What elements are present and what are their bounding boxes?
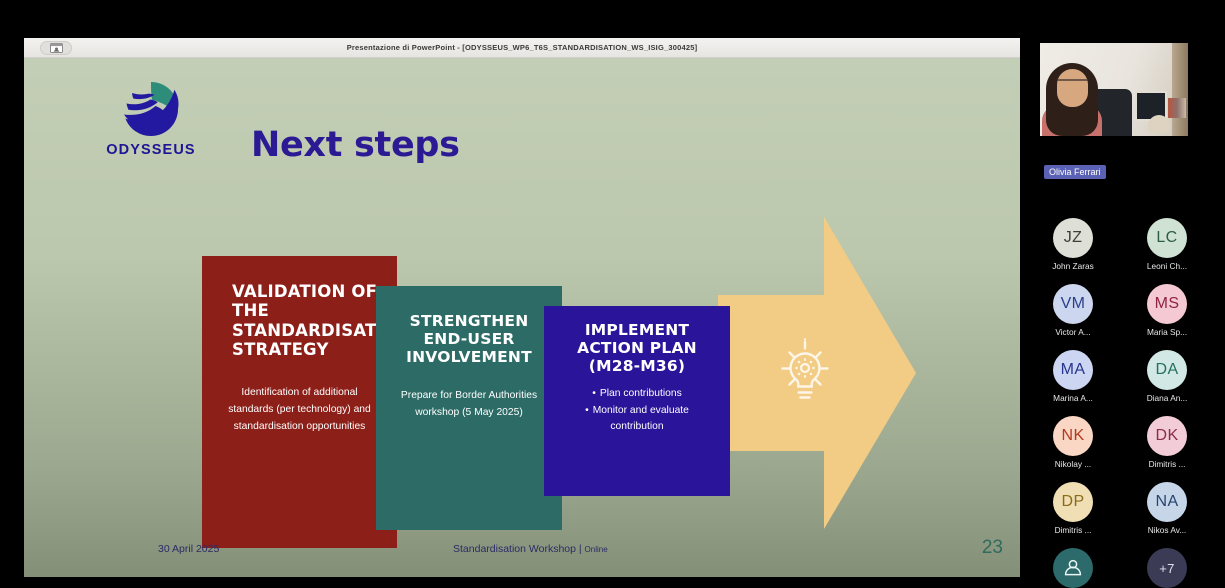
avatar: JZ [1053, 218, 1093, 258]
avatar: VM [1053, 284, 1093, 324]
self-video-tile[interactable] [1040, 43, 1188, 136]
avatar: NA [1147, 482, 1187, 522]
avatar: DK [1147, 416, 1187, 456]
footer-event-mode: Online [585, 545, 608, 554]
footer-date: 30 April 2025 [158, 543, 219, 555]
bullet-dot-icon: • [585, 405, 589, 416]
participant-name: Victor A... [1040, 327, 1106, 337]
slide-footer: 30 April 2025 Standardisation Workshop |… [24, 535, 1020, 577]
video-person-face [1057, 69, 1088, 107]
avatar: DP [1053, 482, 1093, 522]
avatar: MA [1053, 350, 1093, 390]
page-title: Next steps [251, 125, 460, 165]
slide-number: 23 [982, 537, 1003, 559]
participant-overflow-tile[interactable]: +7 [1134, 548, 1200, 588]
participant-name: Dimitris ... [1134, 459, 1200, 469]
stage-body: Prepare for Border Authorities workshop … [390, 388, 548, 421]
slide-canvas[interactable]: ODYSSEUS Next steps [24, 58, 1020, 577]
participant-name: Marina A... [1040, 393, 1106, 403]
participant-tile[interactable]: VMVictor A... [1040, 284, 1106, 337]
bullet-text: Plan contributions [600, 388, 682, 399]
window-title: Presentazione di PowerPoint - [ODYSSEUS_… [24, 43, 1020, 52]
stage-heading: IMPLEMENT ACTION PLAN (M28-M36) [556, 321, 718, 375]
stage-body: Identification of additional standards (… [214, 385, 385, 435]
list-item: •Monitor and evaluate contribution [560, 403, 714, 436]
participant-name: Nikos Av... [1134, 525, 1200, 535]
participant-tile[interactable]: NKNikolay ... [1040, 416, 1106, 469]
meeting-participants-rail: Olivia Ferrari JZJohn ZarasLCLeoni Ch...… [1020, 0, 1225, 577]
video-vase [1148, 115, 1170, 133]
stage-heading: VALIDATION OF THE STANDARDISATION STRATE… [214, 282, 385, 359]
list-item: •Plan contributions [560, 386, 714, 402]
video-person-glasses [1057, 79, 1088, 86]
logo-wordmark: ODYSSEUS [91, 142, 211, 158]
bullet-dot-icon: • [592, 388, 596, 399]
right-arrow-shape [718, 217, 918, 529]
participant-tile[interactable]: DPDimitris ... [1040, 482, 1106, 535]
stage-heading: STRENGTHEN END-USER INVOLVEMENT [390, 312, 548, 366]
avatar: NK [1053, 416, 1093, 456]
odysseus-globe-logo-icon [116, 78, 186, 140]
participant-name: John Zaras [1040, 261, 1106, 271]
avatar: LC [1147, 218, 1187, 258]
participant-tile[interactable]: MAMarina A... [1040, 350, 1106, 403]
participant-tile[interactable]: MSMaria Sp... [1134, 284, 1200, 337]
stage-bullet-list: •Plan contributions •Monitor and evaluat… [556, 386, 718, 435]
participant-overflow-count: +7 [1147, 548, 1187, 588]
lightbulb-gear-icon [768, 332, 842, 414]
participant-tile[interactable] [1040, 548, 1106, 588]
participant-name: Leoni Ch... [1134, 261, 1200, 271]
avatar: DA [1147, 350, 1187, 390]
footer-event-name: Standardisation Workshop | [453, 543, 585, 555]
person-silhouette-icon [1053, 548, 1093, 588]
video-door [1172, 43, 1188, 136]
footer-event: Standardisation Workshop | Online [453, 543, 608, 555]
bullet-text: Monitor and evaluate contribution [593, 405, 689, 432]
self-name-badge: Olivia Ferrari [1044, 165, 1106, 179]
participant-tile[interactable]: DKDimitris ... [1134, 416, 1200, 469]
participant-name: Maria Sp... [1134, 327, 1200, 337]
participant-name: Dimitris ... [1040, 525, 1106, 535]
stage-card-validation: VALIDATION OF THE STANDARDISATION STRATE… [202, 256, 397, 548]
participant-name: Nikolay ... [1040, 459, 1106, 469]
participant-name: Diana An... [1134, 393, 1200, 403]
powerpoint-window: Presentazione di PowerPoint - [ODYSSEUS_… [24, 38, 1020, 577]
avatar: MS [1147, 284, 1187, 324]
odysseus-logo: ODYSSEUS [91, 78, 211, 158]
participant-tile[interactable]: JZJohn Zaras [1040, 218, 1106, 271]
participant-grid: JZJohn ZarasLCLeoni Ch...VMVictor A...MS… [1040, 218, 1210, 588]
stage-card-action-plan: IMPLEMENT ACTION PLAN (M28-M36) •Plan co… [544, 306, 730, 496]
stage-card-end-user: STRENGTHEN END-USER INVOLVEMENT Prepare … [376, 286, 562, 530]
participant-tile[interactable]: LCLeoni Ch... [1134, 218, 1200, 271]
participant-tile[interactable]: NANikos Av... [1134, 482, 1200, 535]
video-books [1168, 98, 1186, 118]
window-title-bar: Presentazione di PowerPoint - [ODYSSEUS_… [24, 38, 1020, 58]
participant-tile[interactable]: DADiana An... [1134, 350, 1200, 403]
